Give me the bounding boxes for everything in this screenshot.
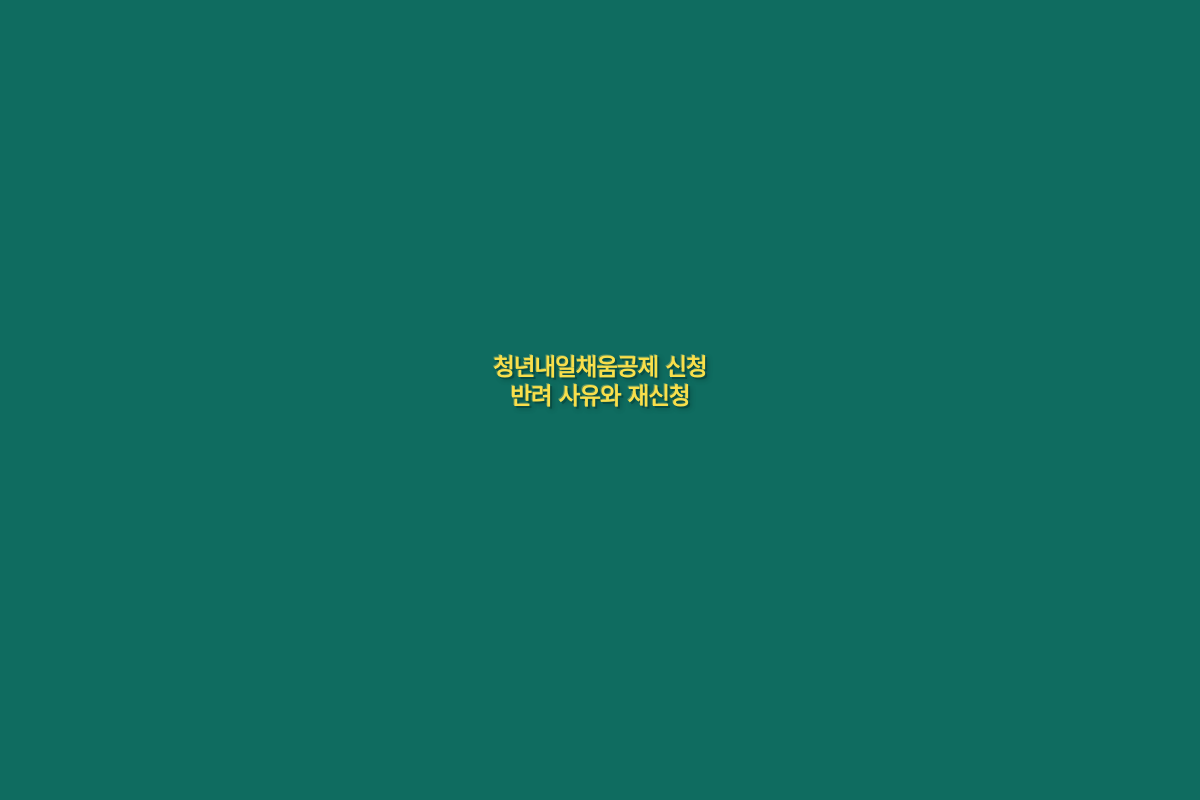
thumbnail-card: 청년내일채움공제 신청 반려 사유와 재신청: [0, 0, 1200, 800]
headline-line-2: 반려 사유와 재신청: [0, 382, 1200, 411]
headline-line-1: 청년내일채움공제 신청: [0, 353, 1200, 382]
headline-block: 청년내일채움공제 신청 반려 사유와 재신청: [0, 353, 1200, 412]
